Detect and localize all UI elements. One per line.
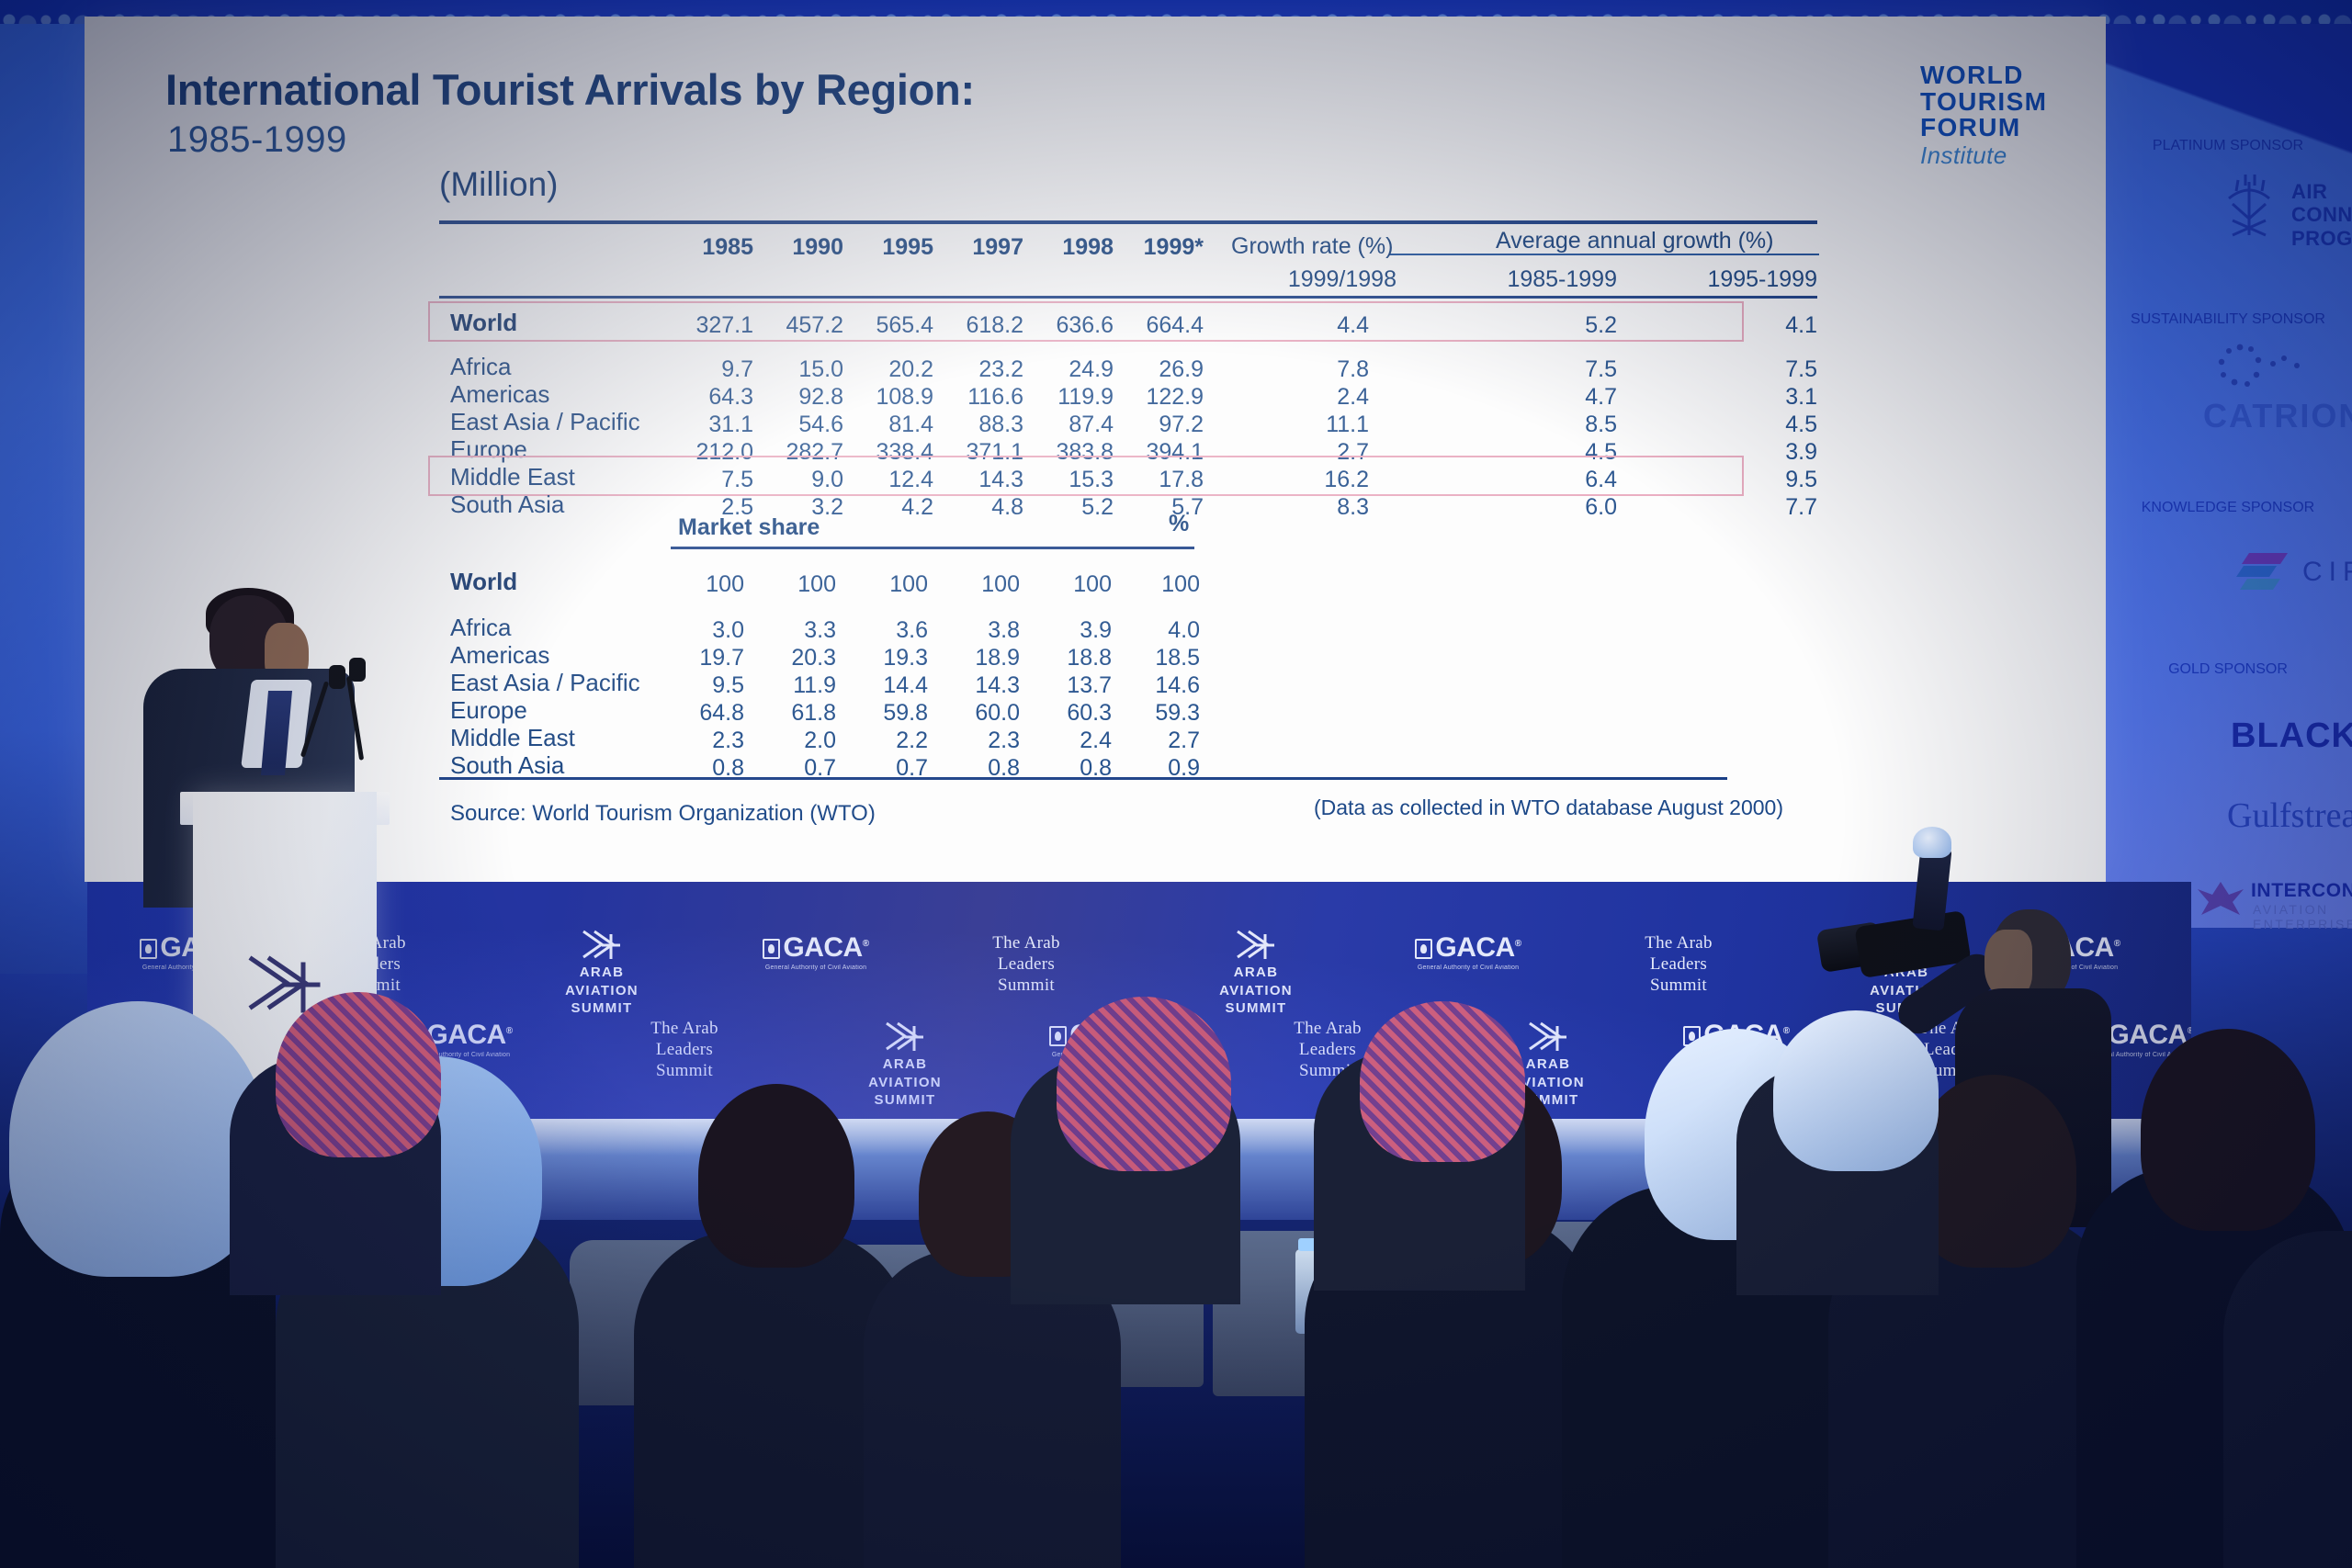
knowledge-sponsor-label: KNOWLEDGE SPONSOR	[2104, 500, 2352, 516]
logo-line-forum: FORUM	[1920, 115, 2047, 141]
audience-person-shoulders	[2223, 1231, 2352, 1568]
cell-middle-east-1999: 17.8	[1084, 467, 1204, 493]
conference-photo: International Tourist Arrivals by Region…	[0, 0, 2352, 1568]
unit-label: (Million)	[439, 165, 559, 204]
cell-avg2-east-asia-pacific: 4.5	[1698, 412, 1817, 438]
logo-line-tourism: TOURISM	[1920, 89, 2047, 116]
cell-growth-east-asia-pacific: 11.1	[1249, 412, 1369, 438]
percent-label: %	[1169, 511, 1189, 537]
catrion-name: CATRION	[2203, 397, 2352, 435]
share-row-label-south-asia: South Asia	[450, 751, 564, 780]
row-label-middle-east: Middle East	[450, 463, 575, 491]
cell-avg1-east-asia-pacific: 8.5	[1498, 412, 1617, 438]
backdrop-logo-arab-aviation-summit: ARABAVIATIONSUMMIT	[547, 926, 657, 1018]
share-row-label-americas: Americas	[450, 641, 549, 670]
cell-africa-1999: 26.9	[1084, 356, 1204, 383]
cell-growth-africa: 7.8	[1249, 356, 1369, 383]
world-tourism-forum-institute-logo: WORLD TOURISM FORUM Institute	[1920, 62, 2047, 167]
row-label-americas: Americas	[450, 380, 549, 409]
source-text: Source: World Tourism Organization (WTO)	[450, 801, 876, 827]
cirium-logo-icon	[2234, 538, 2301, 602]
cell-east-asia-pacific-1999: 97.2	[1084, 412, 1204, 438]
audience-shemagh-checkered	[1360, 1001, 1525, 1162]
avg-annual-growth-header: Average annual growth (%)	[1496, 228, 1774, 254]
share-east-asia-pacific-1999: 14.6	[1080, 672, 1200, 699]
cell-growth-world: 4.4	[1249, 312, 1369, 339]
row-label-africa: Africa	[450, 353, 511, 381]
market-share-label: Market share	[678, 514, 820, 541]
cell-americas-1999: 122.9	[1084, 384, 1204, 411]
microphone-head-left	[329, 665, 345, 689]
share-middle-east-1999: 2.7	[1080, 728, 1200, 754]
aviation-enterprises-name: AVIATION ENTERPRISES	[2253, 902, 2352, 931]
backdrop-logo-arab-leaders-summit: The ArabLeadersSummit	[629, 1018, 740, 1082]
row-label-world: World	[450, 309, 517, 337]
gulfstream-name: Gulfstream	[2227, 795, 2352, 836]
cell-avg2-americas: 3.1	[1698, 384, 1817, 411]
backdrop-logo-arab-aviation-summit: ARABAVIATIONSUMMIT	[850, 1018, 960, 1110]
cell-avg1-africa: 7.5	[1498, 356, 1617, 383]
avg-period-2-header: 1995-1999	[1698, 266, 1817, 293]
air-connectivity-program-icon	[2205, 167, 2293, 260]
table-rule-top	[439, 220, 1817, 224]
air-connectivity-program-name: AIR CONNECTIVITY PROGRAM	[2291, 180, 2352, 250]
audience-shemagh-checkered	[276, 992, 441, 1157]
blacklane-name: BLACKLANE	[2231, 716, 2352, 756]
share-row-label-east-asia-pacific: East Asia / Pacific	[450, 669, 640, 697]
cell-growth-middle-east: 16.2	[1249, 467, 1369, 493]
row-label-east-asia-pacific: East Asia / Pacific	[450, 408, 640, 436]
share-africa-1999: 4.0	[1080, 617, 1200, 644]
audience-head-dark	[698, 1084, 854, 1268]
hall-left-wall-panel	[0, 0, 87, 974]
backdrop-logo-arab-aviation-summit: ARABAVIATIONSUMMIT	[1201, 926, 1311, 1018]
share-south-asia-1999: 0.9	[1080, 755, 1200, 782]
cell-growth-americas: 2.4	[1249, 384, 1369, 411]
backdrop-logo-gaca: GACA®General Authority of Civil Aviation	[747, 932, 885, 971]
data-note-text: (Data as collected in WTO database Augus…	[1314, 795, 1783, 820]
row-label-south-asia: South Asia	[450, 491, 564, 519]
microphone-head-right	[349, 658, 366, 682]
cell-avg1-middle-east: 6.4	[1498, 467, 1617, 493]
cell-world-1999: 664.4	[1084, 312, 1204, 339]
intercontinental-name: INTERCONTINENTAL	[2251, 880, 2352, 902]
cell-avg1-americas: 4.7	[1498, 384, 1617, 411]
cell-growth-south-asia: 8.3	[1249, 494, 1369, 521]
audience-head-dark	[2141, 1029, 2315, 1231]
share-europe-1999: 59.3	[1080, 700, 1200, 727]
share-world-1999: 100	[1080, 571, 1200, 598]
avg-period-1-header: 1985-1999	[1498, 266, 1617, 293]
cell-avg2-south-asia: 7.7	[1698, 494, 1817, 521]
audience-shemagh-checkered	[1057, 997, 1231, 1171]
slide-title: International Tourist Arrivals by Region…	[165, 64, 975, 115]
backdrop-logo-arab-leaders-summit: The ArabLeadersSummit	[971, 932, 1081, 997]
cirium-name: CIRIUM	[2302, 557, 2352, 588]
cell-avg2-world: 4.1	[1698, 312, 1817, 339]
sustainability-sponsor-label: SUSTAINABILITY SPONSOR	[2104, 311, 2352, 328]
market-share-rule	[671, 547, 1194, 549]
growth-rate-subheader: 1999/1998	[1277, 266, 1396, 293]
gold-sponsor-label: GOLD SPONSOR	[2104, 661, 2352, 678]
audience-keffiyeh	[1773, 1010, 1939, 1171]
platinum-sponsor-label: PLATINUM SPONSOR	[2104, 138, 2352, 154]
cell-avg2-middle-east: 9.5	[1698, 467, 1817, 493]
intercontinental-aviation-bird-icon	[2192, 876, 2249, 923]
table-rule-header	[439, 296, 1817, 299]
backdrop-logo-gaca: GACA®General Authority of Civil Aviation	[1399, 932, 1537, 971]
share-row-label-africa: Africa	[450, 614, 511, 642]
cell-avg2-africa: 7.5	[1698, 356, 1817, 383]
share-row-label-europe: Europe	[450, 696, 527, 725]
camera-flash-bulb	[1913, 827, 1951, 858]
growth-rate-header: Growth rate (%)	[1231, 233, 1393, 260]
backdrop-logo-arab-leaders-summit: The ArabLeadersSummit	[1623, 932, 1734, 997]
column-header-1999star: 1999*	[1084, 234, 1204, 261]
catrion-dots-icon	[2212, 342, 2323, 400]
cell-avg1-world: 5.2	[1498, 312, 1617, 339]
slide-subtitle: 1985-1999	[167, 119, 347, 161]
audience-keffiyeh	[9, 1001, 266, 1277]
logo-line-institute: Institute	[1920, 143, 2047, 168]
share-americas-1999: 18.5	[1080, 645, 1200, 671]
logo-line-world: WORLD	[1920, 62, 2047, 89]
share-row-label-world: World	[450, 568, 517, 596]
share-row-label-middle-east: Middle East	[450, 724, 575, 752]
photographer-face	[1984, 930, 2032, 998]
cell-avg1-south-asia: 6.0	[1498, 494, 1617, 521]
